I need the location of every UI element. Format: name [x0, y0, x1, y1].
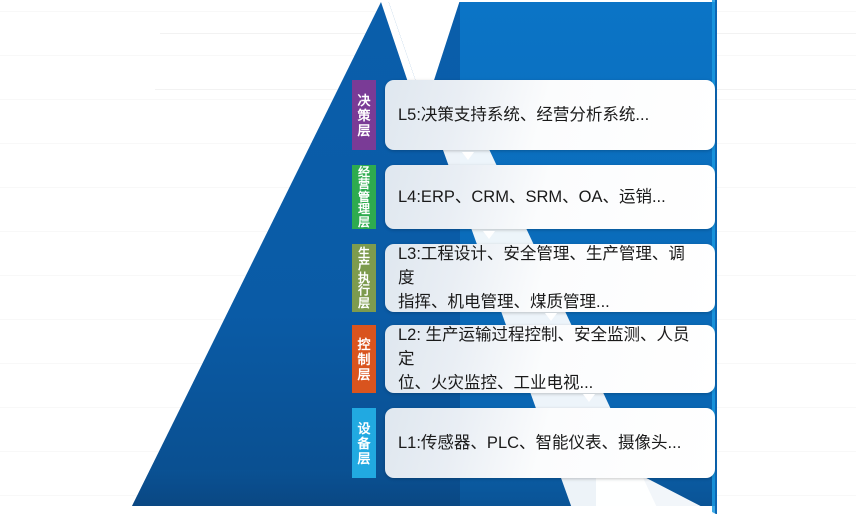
card-line: L3:工程设计、安全管理、生产管理、调度 [398, 242, 701, 290]
tab-char: 层 [357, 123, 370, 138]
tab-char: 营 [358, 178, 370, 191]
pyramid-diagram-canvas: 决 策 层 L5:决策支持系统、经营分析系统... 经 营 管 理 层 [0, 0, 856, 514]
connector-notch [545, 313, 557, 321]
layer-row-l1[interactable]: 设 备 层 L1:传感器、PLC、智能仪表、摄像头... [352, 408, 715, 478]
layer-rows: 决 策 层 L5:决策支持系统、经营分析系统... 经 营 管 理 层 [0, 0, 856, 514]
tab-char: 行 [358, 284, 370, 297]
layer-row-l4[interactable]: 经 营 管 理 层 L4:ERP、CRM、SRM、OA、运销... [352, 165, 715, 229]
tab-char: 理 [358, 203, 370, 216]
layer-card-text-l3: L3:工程设计、安全管理、生产管理、调度 指挥、机电管理、煤质管理... [398, 242, 701, 314]
layer-tab-l5[interactable]: 决 策 层 [352, 80, 376, 150]
tab-char: 层 [357, 451, 370, 466]
layer-card-l1[interactable]: L1:传感器、PLC、智能仪表、摄像头... [385, 408, 715, 478]
tab-char: 决 [357, 93, 370, 108]
layer-row-l3[interactable]: 生 产 执 行 层 L3:工程设计、安全管理、生产管理、调度 指挥、机电管理、煤… [352, 244, 715, 312]
layer-card-l2[interactable]: L2: 生产运输过程控制、安全监测、人员定 位、火灾监控、工业电视... [385, 325, 715, 393]
layer-card-l4[interactable]: L4:ERP、CRM、SRM、OA、运销... [385, 165, 715, 229]
tab-char: 层 [358, 297, 370, 310]
connector-notch [483, 231, 495, 239]
layer-card-text-l4: L4:ERP、CRM、SRM、OA、运销... [398, 185, 666, 209]
layer-tab-l1[interactable]: 设 备 层 [352, 408, 376, 478]
layer-card-text-l5: L5:决策支持系统、经营分析系统... [398, 103, 649, 127]
tab-char: 产 [358, 259, 370, 272]
tab-char: 控 [357, 337, 370, 352]
layer-row-l5[interactable]: 决 策 层 L5:决策支持系统、经营分析系统... [352, 80, 715, 150]
layer-card-text-l1: L1:传感器、PLC、智能仪表、摄像头... [398, 431, 681, 455]
layer-tab-l3[interactable]: 生 产 执 行 层 [352, 244, 376, 312]
card-line: L2: 生产运输过程控制、安全监测、人员定 [398, 323, 701, 371]
tab-char: 备 [357, 436, 370, 451]
layer-tab-l2[interactable]: 控 制 层 [352, 325, 376, 393]
card-line: 指挥、机电管理、煤质管理... [398, 290, 701, 314]
tab-char: 设 [357, 421, 370, 436]
layer-row-l2[interactable]: 控 制 层 L2: 生产运输过程控制、安全监测、人员定 位、火灾监控、工业电视.… [352, 325, 715, 393]
connector-notch [462, 152, 474, 160]
layer-card-l3[interactable]: L3:工程设计、安全管理、生产管理、调度 指挥、机电管理、煤质管理... [385, 244, 715, 312]
card-line: L1:传感器、PLC、智能仪表、摄像头... [398, 431, 681, 455]
tab-char: 策 [357, 108, 370, 123]
tab-char: 层 [357, 367, 370, 382]
card-line: 位、火灾监控、工业电视... [398, 371, 701, 395]
card-line: L5:决策支持系统、经营分析系统... [398, 103, 649, 127]
layer-card-text-l2: L2: 生产运输过程控制、安全监测、人员定 位、火灾监控、工业电视... [398, 323, 701, 395]
tab-char: 制 [357, 352, 370, 367]
tab-char: 层 [358, 216, 370, 229]
layer-card-l5[interactable]: L5:决策支持系统、经营分析系统... [385, 80, 715, 150]
connector-notch [583, 394, 595, 402]
layer-tab-l4[interactable]: 经 营 管 理 层 [352, 165, 376, 229]
card-line: L4:ERP、CRM、SRM、OA、运销... [398, 185, 666, 209]
